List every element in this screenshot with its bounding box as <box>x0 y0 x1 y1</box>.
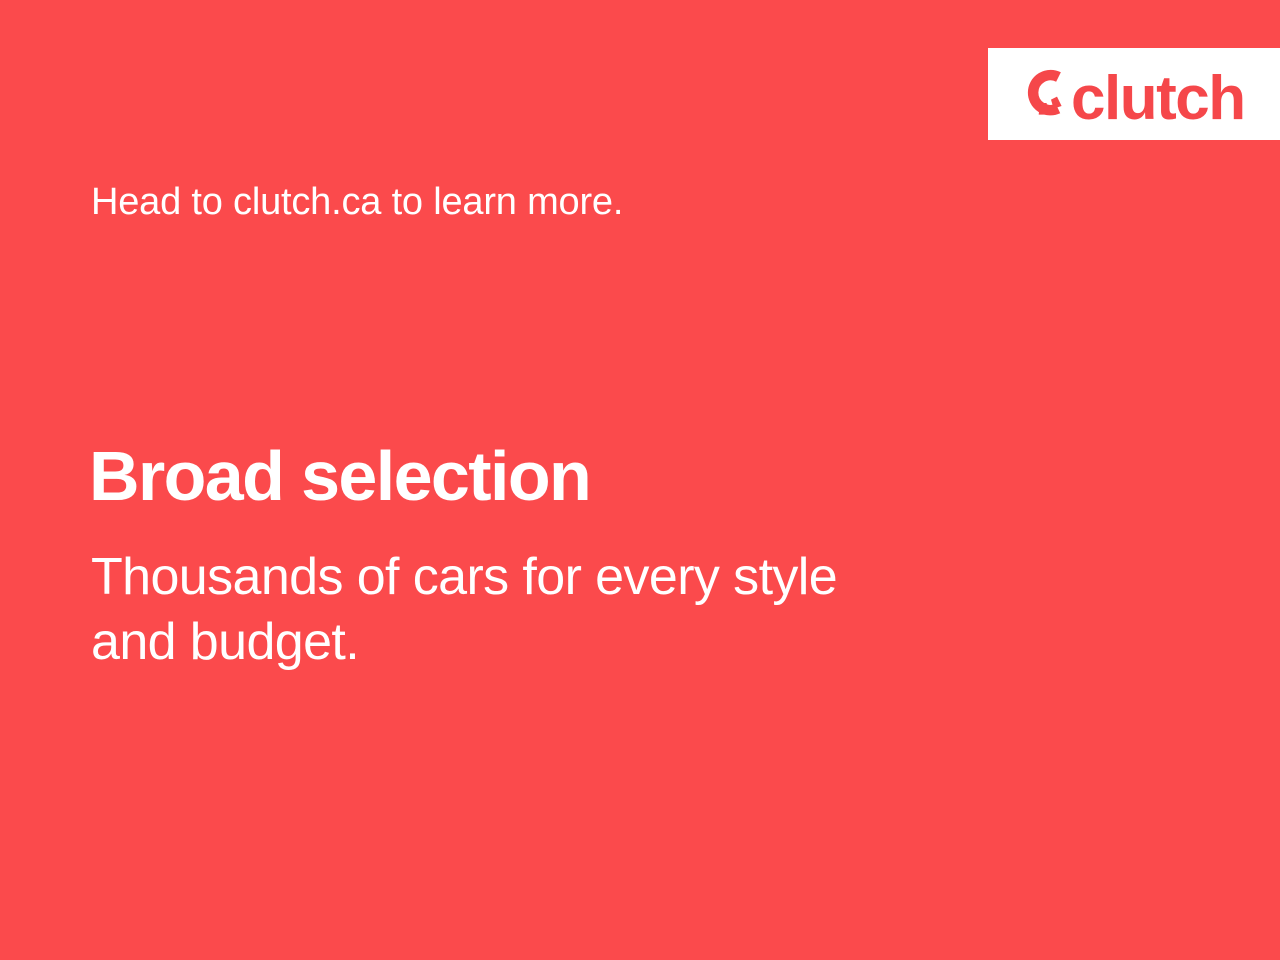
clutch-wheel-mark-icon <box>1020 65 1068 123</box>
clutch-wordmark: clutch <box>1071 75 1245 123</box>
clutch-logo-badge[interactable]: clutch <box>988 48 1280 140</box>
subhead-text: Thousands of cars for every style and bu… <box>91 545 1051 675</box>
subhead-line-1: Thousands of cars for every style <box>91 545 1051 610</box>
logo-lockup: clutch <box>1020 65 1245 123</box>
subhead-line-2: and budget. <box>91 610 1051 675</box>
promo-slide: clutch Head to clutch.ca to learn more. … <box>0 0 1280 960</box>
page-title: Broad selection <box>89 440 590 514</box>
tagline-text: Head to clutch.ca to learn more. <box>91 180 623 226</box>
